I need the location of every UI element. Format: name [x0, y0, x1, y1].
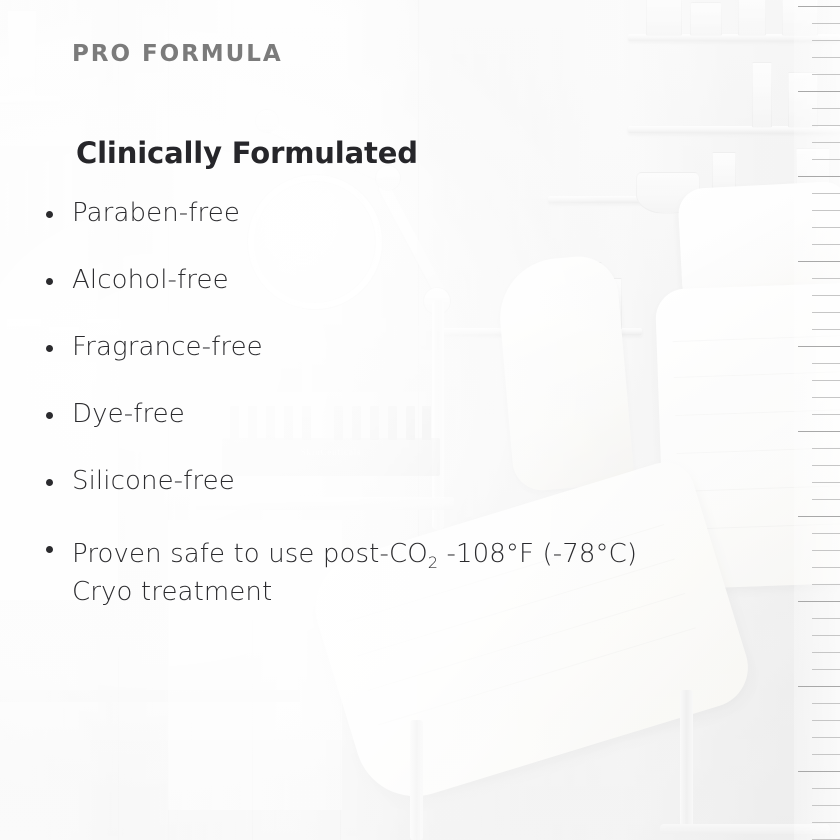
co2-subscript: 2 — [428, 553, 438, 572]
benefit-label: Dye-free — [72, 399, 185, 429]
benefit-label: Paraben-free — [72, 198, 240, 228]
benefit-label-prefix: Proven safe to use post-CO — [72, 539, 428, 569]
bullet-icon — [46, 345, 53, 352]
benefit-item: Alcohol-free — [44, 267, 684, 293]
bullet-icon — [46, 211, 53, 218]
benefit-item: Dye-free — [44, 401, 684, 427]
benefit-label: Silicone-free — [72, 466, 235, 496]
bullet-icon — [46, 546, 53, 553]
bullet-icon — [46, 412, 53, 419]
benefit-label: Fragrance-free — [72, 332, 263, 362]
eyebrow-label: PRO FORMULA — [72, 41, 283, 67]
bullet-icon — [46, 278, 53, 285]
benefits-list: Paraben-freeAlcohol-freeFragrance-freeDy… — [44, 200, 684, 612]
promo-slide: SkinCeuticals — [0, 0, 840, 840]
bullet-icon — [46, 479, 53, 486]
benefit-label: Alcohol-free — [72, 265, 229, 295]
benefit-item-cryo: Proven safe to use post-CO2 -108°F (-78°… — [44, 535, 684, 612]
benefit-item: Paraben-free — [44, 200, 684, 226]
page-title: Clinically Formulated — [76, 136, 418, 170]
benefit-item: Fragrance-free — [44, 334, 684, 360]
slide-content: PRO FORMULA Clinically Formulated Parabe… — [0, 0, 840, 840]
benefit-item: Silicone-free — [44, 468, 684, 494]
